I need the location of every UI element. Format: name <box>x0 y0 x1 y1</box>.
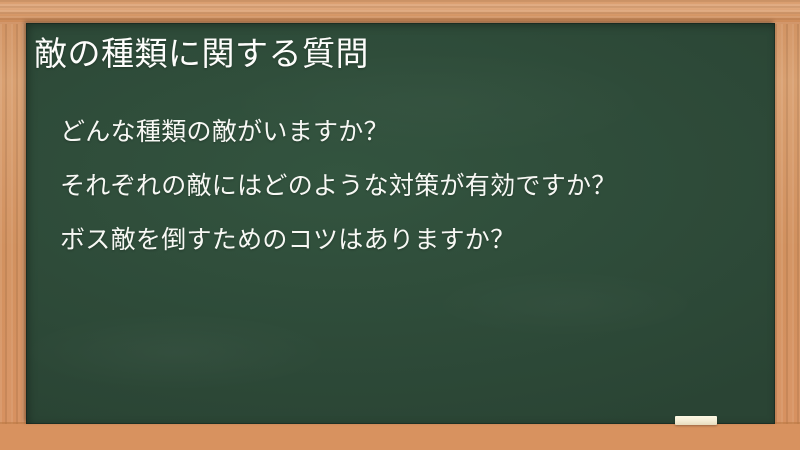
question-list: どんな種類の敵がいますか？ それぞれの敵にはどのような対策が有効ですか？ ボス敵… <box>60 105 765 267</box>
chalkboard-surface: 敵の種類に関する質問 どんな種類の敵がいますか？ それぞれの敵にはどのような対策… <box>26 23 775 424</box>
wooden-frame-top-rail <box>0 0 800 24</box>
chalkboard-content: 敵の種類に関する質問 どんな種類の敵がいますか？ それぞれの敵にはどのような対策… <box>26 23 775 424</box>
slide-title: 敵の種類に関する質問 <box>34 32 369 76</box>
chalkboard-slide: 敵の種類に関する質問 どんな種類の敵がいますか？ それぞれの敵にはどのような対策… <box>0 0 800 450</box>
wooden-frame-bottom-ledge <box>0 424 800 450</box>
question-list-item: それぞれの敵にはどのような対策が有効ですか？ <box>60 159 765 213</box>
question-list-item: どんな種類の敵がいますか？ <box>60 105 765 159</box>
question-list-item: ボス敵を倒すためのコツはありますか？ <box>60 213 765 267</box>
